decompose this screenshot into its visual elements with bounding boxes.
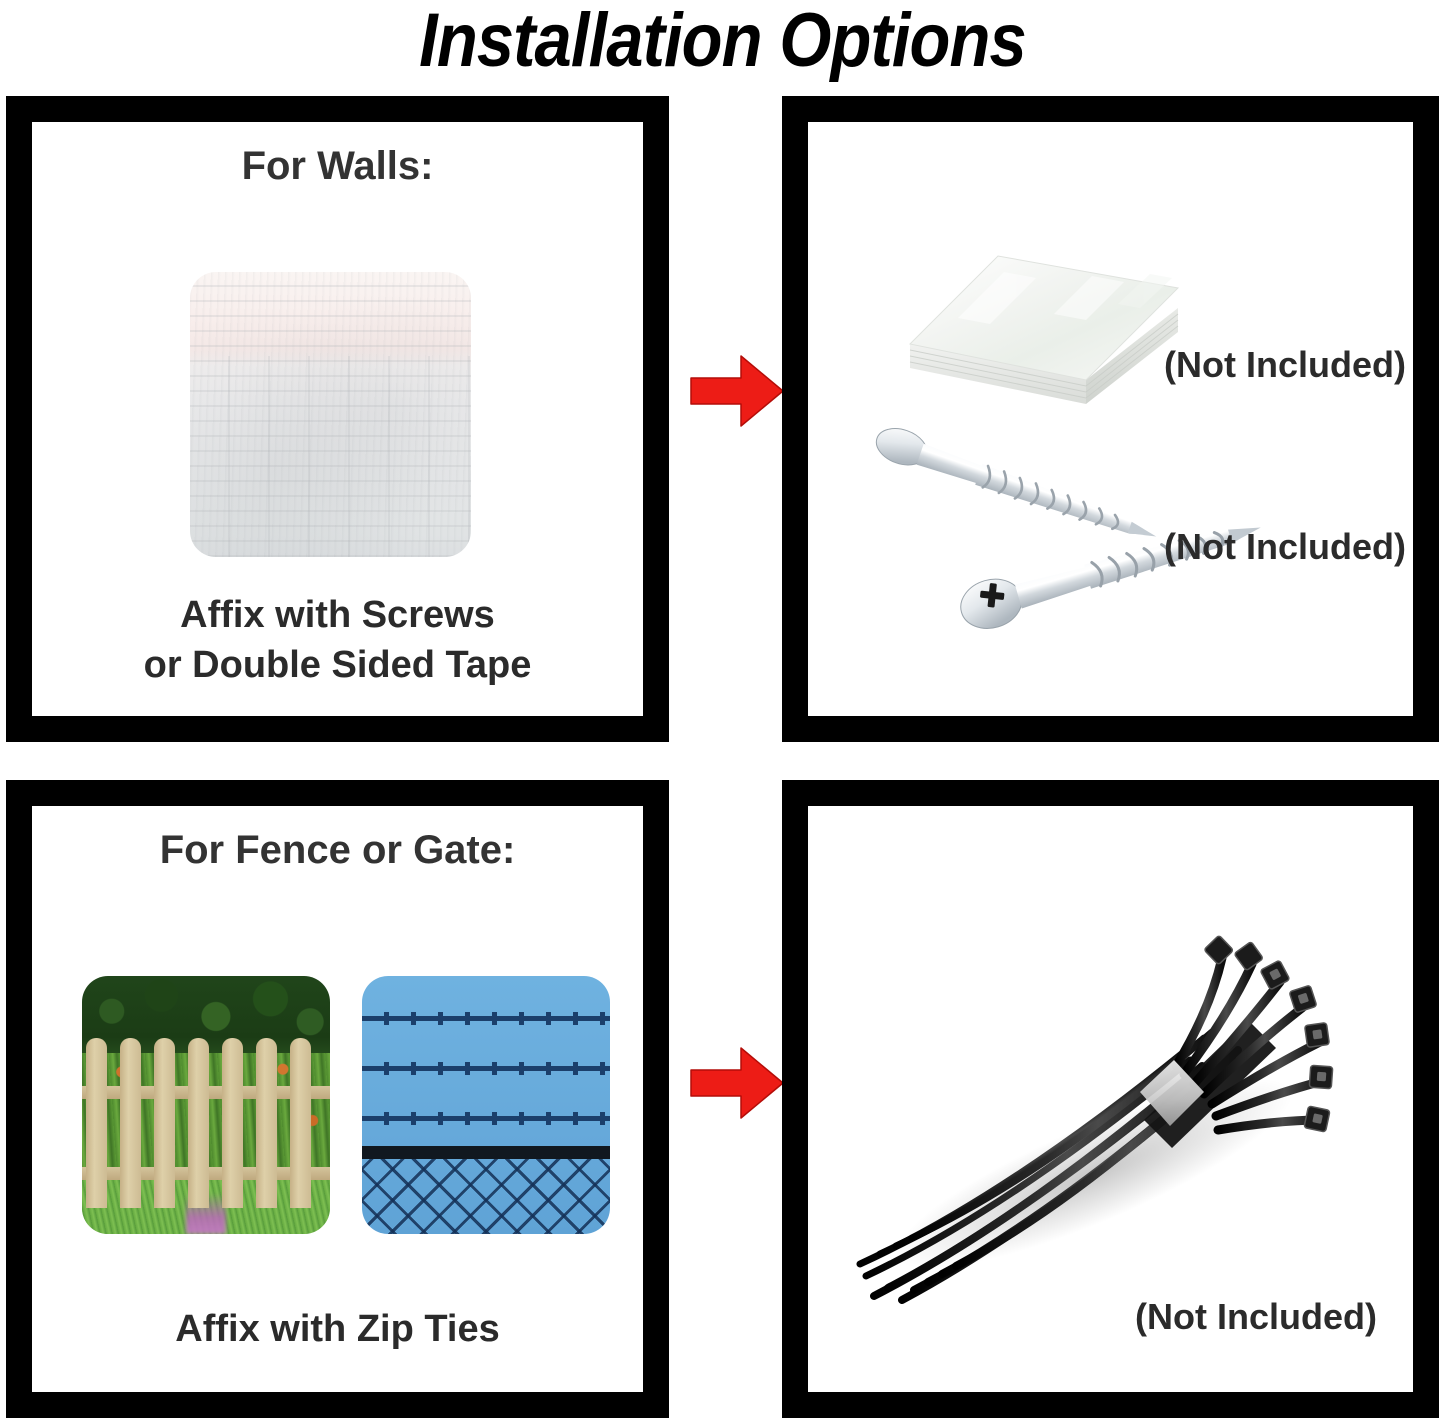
black-zip-tie-bundle-icon: [844, 924, 1334, 1324]
screws-not-included-label: (Not Included): [1164, 526, 1406, 568]
picket-slat: [188, 1038, 209, 1208]
panel-for-walls-content: For Walls: Affix with Screws or Double S…: [32, 122, 643, 716]
picket-slat: [256, 1038, 277, 1208]
installation-options-grid: For Walls: Affix with Screws or Double S…: [6, 96, 1439, 1418]
chain-link-barbed-wire-fence-photo: [362, 976, 610, 1234]
brick-surface-grain: [190, 272, 471, 557]
panel-walls-caption-line2: or Double Sided Tape: [32, 640, 643, 690]
picket-slat: [120, 1038, 141, 1208]
picket-slats: [82, 1038, 330, 1208]
panel-walls-caption-line1: Affix with Screws: [32, 590, 643, 640]
panel-zip-ties: (Not Included): [782, 780, 1439, 1418]
red-right-arrow-icon: [689, 1044, 785, 1122]
tape-not-included-label: (Not Included): [1164, 344, 1406, 386]
panel-fence-caption: Affix with Zip Ties: [32, 1304, 643, 1354]
panel-walls-caption: Affix with Screws or Double Sided Tape: [32, 590, 643, 690]
double-sided-tape-stack-icon: [886, 226, 1186, 408]
fence-top-rail: [362, 1146, 610, 1159]
panel-wall-hardware-content: (Not Included) (Not Included): [808, 122, 1413, 716]
panel-for-fence-content: For Fence or Gate:: [32, 806, 643, 1392]
wooden-picket-fence-photo: [82, 976, 330, 1234]
white-brick-wall-swatch: [190, 272, 471, 557]
panel-for-fence-or-gate: For Fence or Gate:: [6, 780, 669, 1418]
panel-for-walls: For Walls: Affix with Screws or Double S…: [6, 96, 669, 742]
zip-ties-not-included-label: (Not Included): [1135, 1296, 1377, 1338]
picket-slat: [86, 1038, 107, 1208]
barbed-wire-strand: [362, 1016, 610, 1021]
barbed-wire-strand: [362, 1066, 610, 1071]
picket-slat: [290, 1038, 311, 1208]
chain-link-mesh: [362, 1159, 610, 1234]
panel-wall-hardware: (Not Included) (Not Included): [782, 96, 1439, 742]
panel-fence-heading: For Fence or Gate:: [32, 828, 643, 873]
red-right-arrow-icon: [689, 352, 785, 430]
panel-zip-ties-content: (Not Included): [808, 806, 1413, 1392]
picket-slat: [222, 1038, 243, 1208]
picket-slat: [154, 1038, 175, 1208]
barbed-wire-strand: [362, 1116, 610, 1121]
page-title: Installation Options: [87, 0, 1359, 84]
panel-walls-heading: For Walls:: [32, 144, 643, 189]
